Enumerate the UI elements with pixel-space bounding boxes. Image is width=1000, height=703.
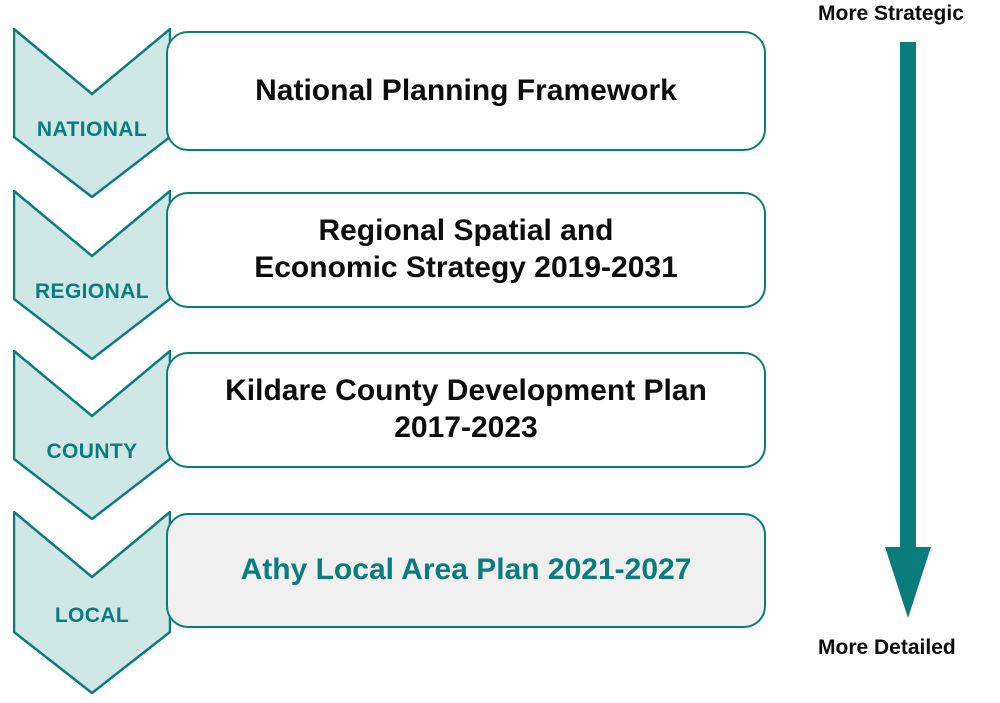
- document-line: 2017-2023: [394, 411, 537, 444]
- document-title-regional: Regional Spatial and Economic Strategy 2…: [240, 213, 692, 286]
- chevron-shape-icon: [13, 350, 171, 520]
- document-line: Economic Strategy 2019-2031: [254, 251, 678, 284]
- document-box-local[interactable]: Athy Local Area Plan 2021-2027: [166, 513, 766, 628]
- chevron-shape-icon: [13, 190, 171, 360]
- document-title-county: Kildare County Development Plan 2017-202…: [211, 373, 721, 446]
- axis-label-more-detailed: More Detailed: [818, 636, 956, 660]
- document-title-national: National Planning Framework: [241, 73, 691, 110]
- document-box-national[interactable]: National Planning Framework: [166, 31, 766, 151]
- axis-label-more-strategic: More Strategic: [818, 2, 964, 26]
- document-line: Kildare County Development Plan: [225, 374, 707, 407]
- diagram-canvas: NATIONAL National Planning Framework REG…: [0, 0, 1000, 703]
- document-line: National Planning Framework: [255, 74, 677, 107]
- document-box-county[interactable]: Kildare County Development Plan 2017-202…: [166, 352, 766, 468]
- tier-chevron-regional: REGIONAL: [13, 190, 171, 360]
- document-title-local: Athy Local Area Plan 2021-2027: [227, 552, 706, 589]
- chevron-shape-icon: [13, 511, 171, 694]
- down-arrow-icon: [880, 42, 936, 620]
- document-line: Regional Spatial and: [318, 214, 613, 247]
- tier-chevron-local: LOCAL: [13, 511, 171, 694]
- document-line: Athy Local Area Plan 2021-2027: [241, 553, 692, 586]
- tier-chevron-county: COUNTY: [13, 350, 171, 520]
- chevron-shape-icon: [13, 28, 171, 198]
- document-box-regional[interactable]: Regional Spatial and Economic Strategy 2…: [166, 192, 766, 308]
- tier-chevron-national: NATIONAL: [13, 28, 171, 198]
